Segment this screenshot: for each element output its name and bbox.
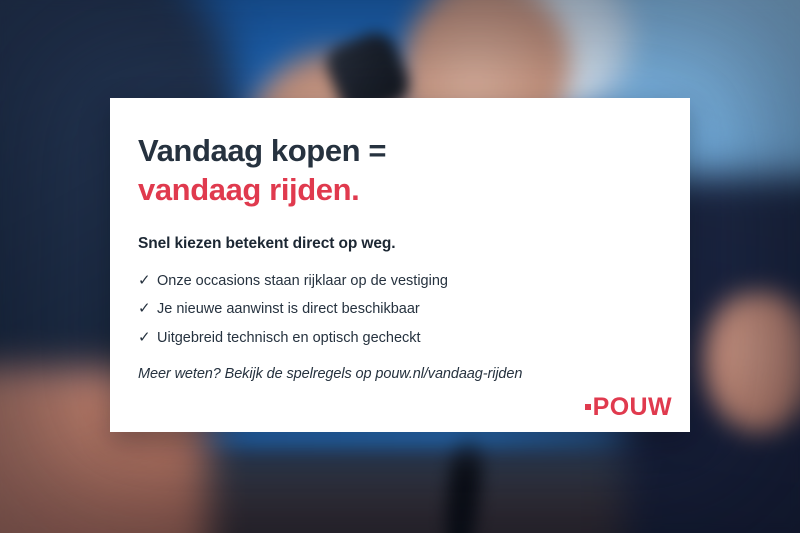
headline-line-1: Vandaag kopen =	[138, 131, 650, 170]
check-icon: ✓	[138, 330, 157, 345]
subheading: Snel kiezen betekent direct op weg.	[138, 235, 650, 253]
check-icon: ✓	[138, 301, 157, 316]
benefit-label: Je nieuwe aanwinst is direct beschikbaar	[157, 301, 420, 318]
list-item: ✓ Uitgebreid technisch en optisch gechec…	[138, 330, 650, 347]
logo-dot-icon	[585, 404, 591, 410]
page-title: Vandaag kopen = vandaag rijden.	[138, 131, 650, 210]
pouw-logo: POUW	[585, 395, 672, 420]
logo-wordmark: POUW	[593, 395, 672, 420]
benefit-label: Uitgebreid technisch en optisch gecheckt	[157, 330, 421, 347]
list-item: ✓ Je nieuwe aanwinst is direct beschikba…	[138, 301, 650, 318]
check-icon: ✓	[138, 273, 157, 288]
promo-banner: Vandaag kopen = vandaag rijden. Snel kie…	[0, 0, 800, 533]
promo-card: Vandaag kopen = vandaag rijden. Snel kie…	[110, 98, 690, 432]
benefit-label: Onze occasions staan rijklaar op de vest…	[157, 273, 448, 290]
footnote-text: Meer weten? Bekijk de spelregels op pouw…	[138, 366, 650, 382]
list-item: ✓ Onze occasions staan rijklaar op de ve…	[138, 273, 650, 290]
benefits-list: ✓ Onze occasions staan rijklaar op de ve…	[138, 273, 650, 347]
headline-line-2: vandaag rijden.	[138, 170, 650, 209]
